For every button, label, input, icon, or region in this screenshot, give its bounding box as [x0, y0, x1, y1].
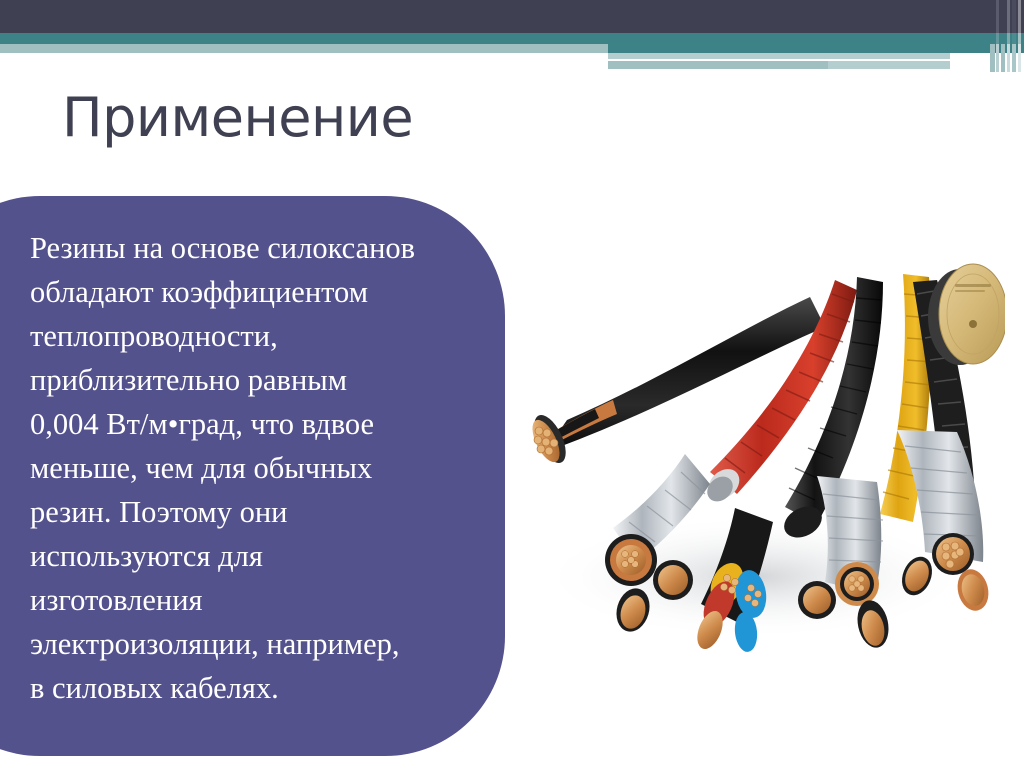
body-paragraph: Резины на основе силоксанов обладают коэ… — [30, 226, 420, 710]
banner-vertical-stripe-3 — [1001, 0, 1005, 72]
banner-vertical-stripe-5 — [1012, 0, 1016, 72]
banner-teal-band — [0, 33, 1024, 44]
body-text-panel: Резины на основе силоксанов обладают коэ… — [0, 196, 505, 756]
presentation-slide: Применение Резины на основе силоксанов о… — [0, 0, 1024, 767]
banner-accent-bar-1 — [608, 53, 950, 59]
power-cables-photo — [505, 232, 1005, 662]
banner-teal-band-right — [608, 44, 1024, 53]
banner-vertical-stripe-4 — [1007, 0, 1010, 72]
body-text-container: Резины на основе силоксанов обладают коэ… — [30, 226, 420, 710]
slide-header-banner — [0, 0, 1024, 80]
banner-navy-band — [0, 0, 1024, 33]
banner-vertical-stripe-6 — [1018, 0, 1021, 72]
page-title: Применение — [62, 86, 413, 149]
banner-accent-bar-3 — [828, 61, 950, 69]
banner-vertical-stripes — [990, 0, 1024, 72]
banner-vertical-stripe-1 — [990, 0, 995, 72]
power-cables-illustration — [505, 232, 1005, 662]
cable-spool — [928, 264, 1005, 365]
cable-black-left — [527, 297, 825, 468]
banner-vertical-stripe-2 — [996, 0, 999, 72]
banner-light-teal-band — [0, 44, 608, 53]
